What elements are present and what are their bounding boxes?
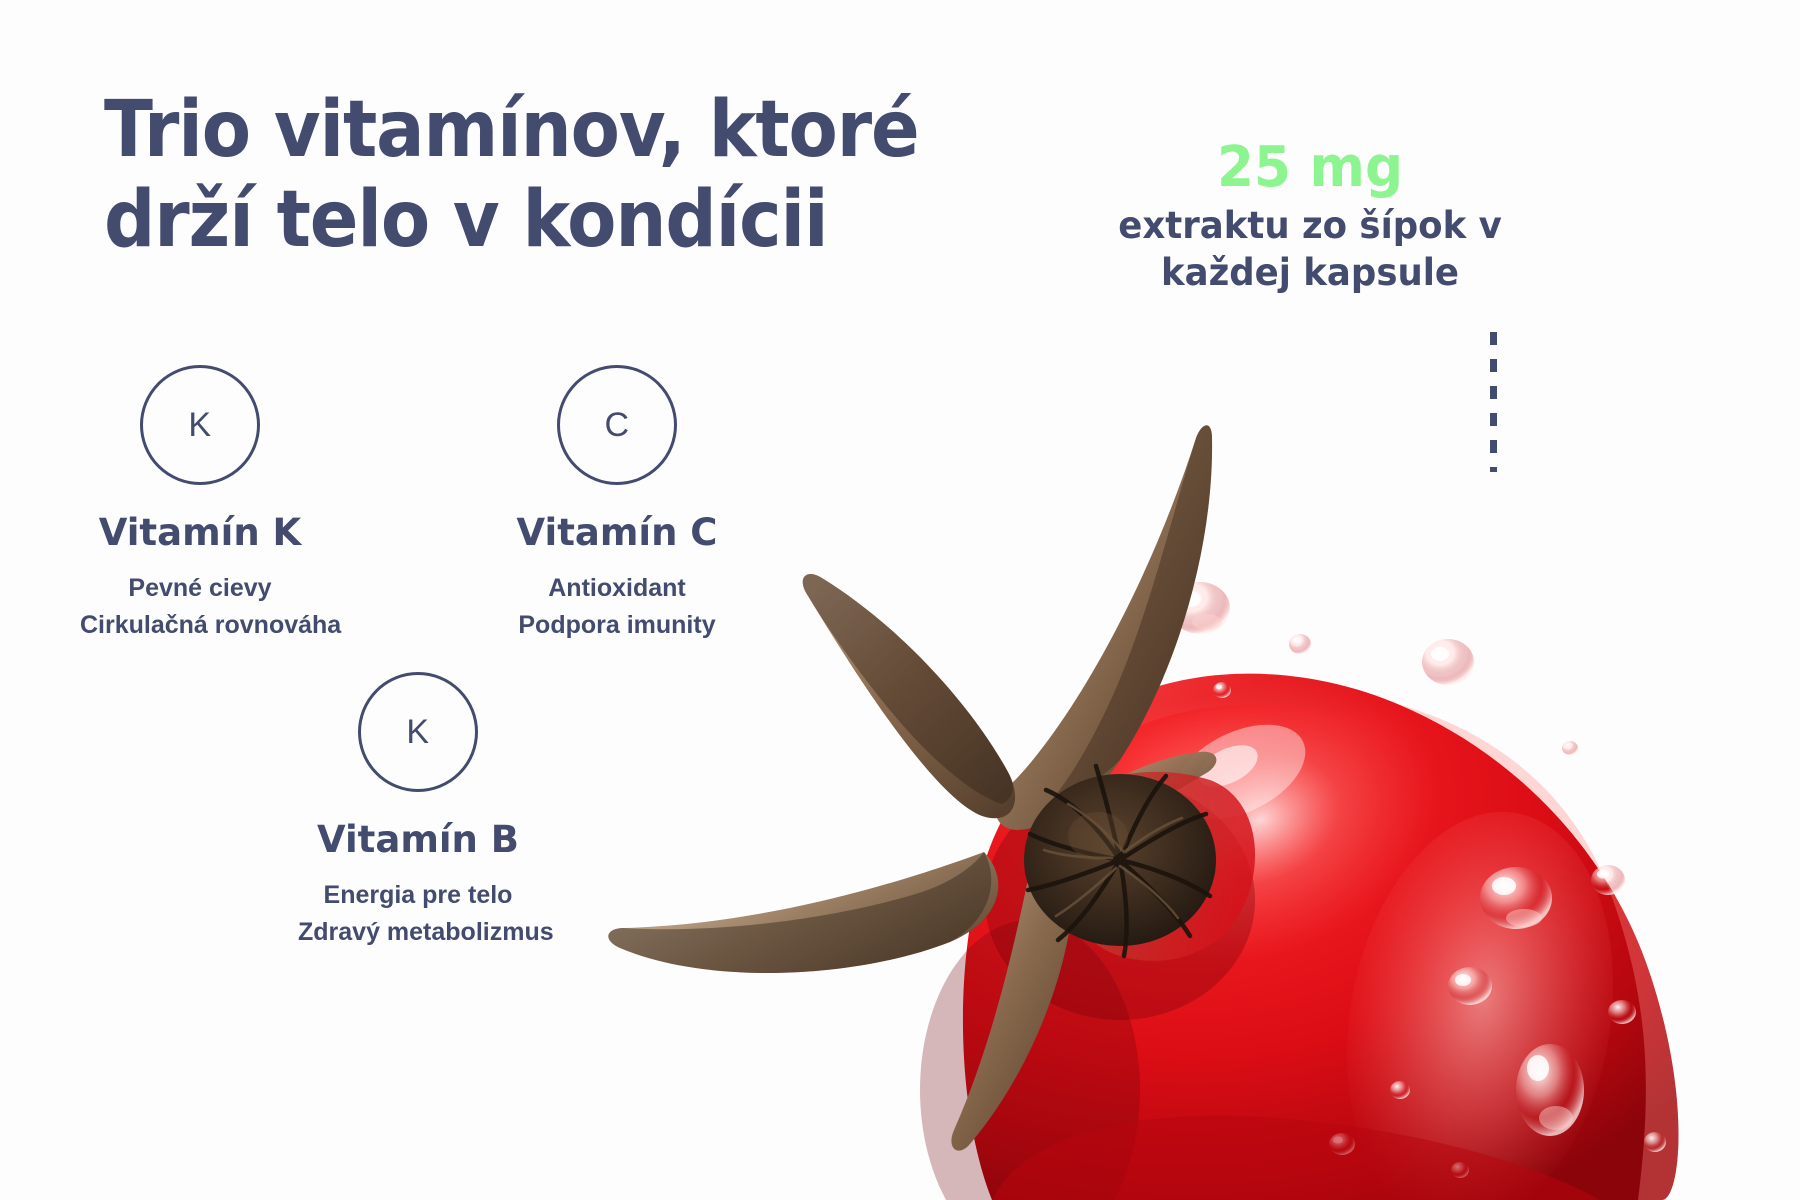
sepal-right [1068, 752, 1217, 846]
berry-bottom-mass [992, 1116, 1600, 1200]
vitamin-b-benefits: Energia pre telo Zdravý metabolizmus [298, 877, 538, 951]
droplet-medium-2 [1608, 1000, 1636, 1024]
vitamin-c-name: Vitamín C [497, 513, 737, 554]
vitamin-card-k: K Vitamín K Pevné cievy Cirkulačná rovno… [80, 365, 320, 644]
sepal-upper [995, 425, 1212, 830]
vitamin-c-benefit-1: Antioxidant [497, 570, 737, 607]
droplet-large-2 [1422, 639, 1474, 685]
droplet-small-2 [1213, 682, 1231, 698]
vitamin-k-name: Vitamín K [80, 513, 320, 554]
droplet-small-1 [1289, 634, 1311, 654]
droplet-small-3 [1562, 741, 1578, 755]
droplet-small-4 [1390, 1081, 1410, 1099]
sepal-lower-left [608, 852, 998, 973]
vitamin-c-benefit-2: Podpora imunity [497, 607, 737, 644]
vitamin-c-circle-icon: C [557, 365, 677, 485]
berry-body-group [920, 626, 1679, 1200]
berry-calyx-shadow [985, 780, 1255, 1020]
berry-specular-core [1192, 737, 1264, 796]
rose-hip-svg [600, 400, 1800, 1200]
vitamin-b-name: Vitamín B [298, 820, 538, 861]
berry-highlight-secondary [1316, 791, 1645, 1200]
calyx-crown [1024, 766, 1216, 956]
vitamin-k-letter: K [188, 408, 211, 442]
sepal-lower-left-shade [608, 852, 991, 973]
vitamin-c-letter: C [604, 408, 629, 442]
headline-line-1: Trio vitamínov, ktoré [104, 85, 1033, 175]
vitamin-card-c: C Vitamín C Antioxidant Podpora imunity [497, 365, 737, 644]
vitamin-k-benefit-2: Cirkulačná rovnováha [80, 607, 320, 644]
dashed-pointer-line [1490, 332, 1497, 472]
vitamin-b-circle-icon: K [358, 672, 478, 792]
droplet-small-5 [1329, 1133, 1355, 1155]
dosage-amount: 25 mg [1073, 140, 1548, 196]
droplet-small-7 [1451, 1162, 1469, 1178]
calyx-neck [1046, 772, 1255, 961]
infographic-canvas: Trio vitamínov, ktoré drží telo v kondíc… [0, 0, 1800, 1200]
droplet-large-3 [1480, 867, 1552, 929]
berry-specular [1160, 705, 1321, 838]
vitamin-b-letter: K [406, 715, 429, 749]
dosage-description-line-1: extraktu zo šípok v [1070, 202, 1550, 249]
droplet-large-5 [1516, 1044, 1584, 1136]
dosage-description: extraktu zo šípok v každej kapsule [1070, 202, 1550, 297]
berry-rim-light [1400, 705, 1679, 1200]
vitamin-k-circle-icon: K [140, 365, 260, 485]
water-droplets-group [1170, 582, 1666, 1178]
droplet-medium-1 [1591, 865, 1625, 895]
crown-fibres-light [1044, 804, 1182, 918]
droplet-large-1 [1170, 582, 1230, 634]
vitamin-b-benefit-1: Energia pre telo [298, 877, 538, 914]
vitamin-b-benefit-2: Zdravý metabolizmus [298, 914, 538, 951]
vitamin-k-benefit-1: Pevné cievy [80, 570, 320, 607]
berry-edge-sheen [1070, 674, 1400, 754]
sepal-mid-left-shade [803, 574, 1013, 804]
page-title: Trio vitamínov, ktoré drží telo v kondíc… [104, 85, 1033, 266]
sepal-upper-shade [1048, 425, 1212, 804]
sepal-lower [951, 859, 1074, 1150]
crown-fibres [1028, 766, 1210, 956]
headline-line-2: drží telo v kondícii [104, 175, 1033, 265]
droplet-large-4 [1448, 967, 1492, 1005]
dosage-callout: 25 mg extraktu zo šípok v každej kapsule [1060, 140, 1560, 297]
berry-body [963, 674, 1679, 1200]
dosage-description-line-2: každej kapsule [1070, 249, 1550, 296]
berry-left-shadow [920, 920, 1140, 1200]
vitamin-card-b: K Vitamín B Energia pre telo Zdravý meta… [298, 672, 538, 951]
berry-highlight-main [1038, 626, 1482, 1015]
rose-hip-photo [600, 400, 1800, 1200]
droplet-small-6 [1644, 1132, 1666, 1152]
vitamin-k-benefits: Pevné cievy Cirkulačná rovnováha [80, 570, 320, 644]
sepal-mid-left [803, 574, 1015, 818]
vitamin-c-benefits: Antioxidant Podpora imunity [497, 570, 737, 644]
